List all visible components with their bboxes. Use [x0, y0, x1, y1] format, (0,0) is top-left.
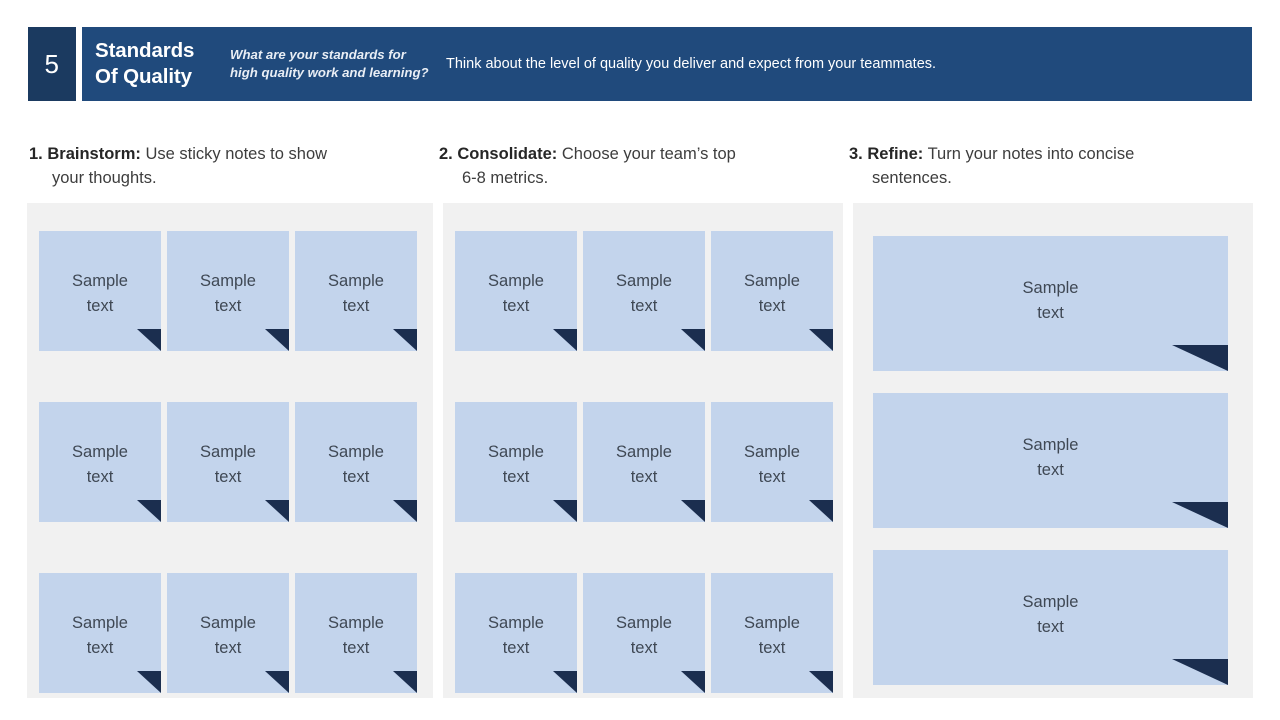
sticky-note-text-line-1: Sample [295, 611, 417, 636]
sticky-note-text-line-1: Sample [873, 433, 1228, 458]
step-number-badge: 5 [28, 27, 76, 101]
folded-corner-icon [809, 329, 833, 351]
instruction-step-2: 2. Consolidate: Choose your team’s top 6… [439, 143, 839, 191]
sticky-note-text-line-2: text [39, 294, 161, 319]
sticky-note-text: Sampletext [295, 440, 417, 490]
instruction-3-line-2: sentences. [849, 167, 1249, 190]
folded-corner-icon [137, 329, 161, 351]
sticky-note-text-line-1: Sample [583, 440, 705, 465]
sticky-note-text-line-1: Sample [455, 440, 577, 465]
instruction-row: 1. Brainstorm: Use sticky notes to show … [0, 143, 1280, 201]
sticky-note-text: Sampletext [167, 269, 289, 319]
sticky-note-text-line-2: text [873, 615, 1228, 640]
sticky-note-text-line-2: text [39, 465, 161, 490]
folded-corner-icon [393, 671, 417, 693]
sticky-note-text-line-1: Sample [873, 276, 1228, 301]
sticky-note[interactable]: Sampletext [39, 573, 161, 693]
panel-consolidate: SampletextSampletextSampletextSampletext… [443, 203, 843, 698]
sticky-note[interactable]: Sampletext [295, 573, 417, 693]
instruction-step-3: 3. Refine: Turn your notes into concise … [849, 143, 1249, 191]
sticky-note-text-line-2: text [583, 294, 705, 319]
folded-corner-icon [1172, 502, 1228, 528]
instruction-1-number: 1. [29, 145, 43, 163]
page-title-line-2: Of Quality [95, 64, 225, 90]
page-title: Standards Of Quality [95, 38, 225, 90]
instruction-2-line-2: 6-8 metrics. [439, 167, 839, 190]
sticky-note[interactable]: Sampletext [167, 231, 289, 351]
sticky-note-text: Sampletext [583, 269, 705, 319]
folded-corner-icon [1172, 659, 1228, 685]
sticky-note-text-line-1: Sample [167, 611, 289, 636]
refined-note-card[interactable]: Sampletext [873, 550, 1228, 685]
sticky-note[interactable]: Sampletext [39, 402, 161, 522]
sticky-note-text: Sampletext [583, 440, 705, 490]
sticky-note-text: Sampletext [873, 433, 1228, 483]
sticky-note-text-line-2: text [167, 465, 289, 490]
sticky-note[interactable]: Sampletext [711, 573, 833, 693]
sticky-note-text-line-2: text [711, 636, 833, 661]
sticky-note-text-line-2: text [455, 465, 577, 490]
instruction-1-line-1: Use sticky notes to show [141, 145, 327, 163]
folded-corner-icon [553, 329, 577, 351]
header-description: Think about the level of quality you del… [446, 55, 1252, 74]
sticky-note-text-line-1: Sample [295, 440, 417, 465]
sticky-note-text-line-2: text [295, 294, 417, 319]
instruction-3-line-1: Turn your notes into concise [923, 145, 1134, 163]
instruction-1-keyword: Brainstorm [47, 145, 135, 163]
sticky-note-text-line-2: text [39, 636, 161, 661]
sticky-note-text-line-2: text [583, 636, 705, 661]
folded-corner-icon [137, 500, 161, 522]
sticky-note-text-line-1: Sample [583, 611, 705, 636]
folded-corner-icon [1172, 345, 1228, 371]
sticky-note-text: Sampletext [583, 611, 705, 661]
instruction-3-number: 3. [849, 145, 863, 163]
instruction-2-line-1: Choose your team’s top [557, 145, 736, 163]
sticky-note-text: Sampletext [873, 276, 1228, 326]
folded-corner-icon [137, 671, 161, 693]
sticky-note[interactable]: Sampletext [167, 573, 289, 693]
sticky-note[interactable]: Sampletext [455, 231, 577, 351]
instruction-3-keyword: Refine [867, 145, 917, 163]
folded-corner-icon [809, 671, 833, 693]
sticky-note-text-line-2: text [455, 294, 577, 319]
sticky-note-text-line-2: text [295, 636, 417, 661]
sticky-note-text-line-1: Sample [583, 269, 705, 294]
sticky-note-text: Sampletext [455, 611, 577, 661]
sticky-note-text-line-2: text [873, 301, 1228, 326]
sticky-note-text-line-2: text [295, 465, 417, 490]
page-title-line-1: Standards [95, 38, 225, 64]
sticky-note-text-line-1: Sample [711, 611, 833, 636]
sticky-note-text: Sampletext [295, 611, 417, 661]
sticky-note-text-line-1: Sample [295, 269, 417, 294]
folded-corner-icon [809, 500, 833, 522]
sticky-note-text-line-1: Sample [167, 440, 289, 465]
folded-corner-icon [265, 671, 289, 693]
sticky-note-text-line-1: Sample [455, 269, 577, 294]
instruction-2-number: 2. [439, 145, 453, 163]
instruction-1-line-2: your thoughts. [29, 167, 429, 190]
sticky-note-text: Sampletext [873, 590, 1228, 640]
sticky-note-text-line-2: text [873, 458, 1228, 483]
refined-note-card[interactable]: Sampletext [873, 393, 1228, 528]
panel-brainstorm: SampletextSampletextSampletextSampletext… [27, 203, 433, 698]
panel-refine: SampletextSampletextSampletext [853, 203, 1253, 698]
sticky-note[interactable]: Sampletext [455, 402, 577, 522]
sticky-note-text-line-1: Sample [39, 269, 161, 294]
sticky-note-text: Sampletext [167, 440, 289, 490]
sticky-note-grid-consolidate: SampletextSampletextSampletextSampletext… [443, 203, 843, 698]
sticky-note[interactable]: Sampletext [711, 231, 833, 351]
sticky-note-text: Sampletext [455, 440, 577, 490]
sticky-note-text-line-1: Sample [167, 269, 289, 294]
folded-corner-icon [393, 500, 417, 522]
sticky-note-text-line-1: Sample [711, 440, 833, 465]
sticky-note-text: Sampletext [39, 269, 161, 319]
folded-corner-icon [681, 671, 705, 693]
folded-corner-icon [681, 500, 705, 522]
sticky-note[interactable]: Sampletext [583, 231, 705, 351]
sticky-note[interactable]: Sampletext [583, 573, 705, 693]
header-question: What are your standards for high quality… [230, 46, 430, 82]
sticky-note[interactable]: Sampletext [455, 573, 577, 693]
sticky-note-text: Sampletext [167, 611, 289, 661]
folded-corner-icon [393, 329, 417, 351]
sticky-note-text-line-1: Sample [711, 269, 833, 294]
step-number-text: 5 [45, 49, 60, 80]
sticky-note-grid-refine: SampletextSampletextSampletext [853, 203, 1253, 698]
sticky-note-text-line-2: text [455, 636, 577, 661]
sticky-note-text-line-2: text [711, 465, 833, 490]
sticky-note-text-line-2: text [583, 465, 705, 490]
folded-corner-icon [553, 671, 577, 693]
folded-corner-icon [681, 329, 705, 351]
sticky-note-text-line-2: text [711, 294, 833, 319]
sticky-note-text-line-1: Sample [873, 590, 1228, 615]
sticky-note-text: Sampletext [295, 269, 417, 319]
sticky-note-text: Sampletext [39, 611, 161, 661]
refined-note-card[interactable]: Sampletext [873, 236, 1228, 371]
sticky-note[interactable]: Sampletext [711, 402, 833, 522]
folded-corner-icon [553, 500, 577, 522]
sticky-note[interactable]: Sampletext [167, 402, 289, 522]
sticky-note-text: Sampletext [711, 440, 833, 490]
sticky-note[interactable]: Sampletext [295, 402, 417, 522]
sticky-note-text: Sampletext [455, 269, 577, 319]
header-title-bar: Standards Of Quality What are your stand… [82, 27, 1252, 101]
sticky-note-text: Sampletext [711, 269, 833, 319]
sticky-note-text-line-1: Sample [455, 611, 577, 636]
sticky-note-text: Sampletext [39, 440, 161, 490]
sticky-note-text-line-1: Sample [39, 440, 161, 465]
sticky-note[interactable]: Sampletext [39, 231, 161, 351]
sticky-note[interactable]: Sampletext [295, 231, 417, 351]
instruction-step-1: 1. Brainstorm: Use sticky notes to show … [29, 143, 429, 191]
folded-corner-icon [265, 329, 289, 351]
slide-header: 5 Standards Of Quality What are your sta… [0, 0, 1280, 120]
instruction-2-keyword: Consolidate [457, 145, 551, 163]
sticky-note-text: Sampletext [711, 611, 833, 661]
sticky-note-grid-brainstorm: SampletextSampletextSampletextSampletext… [27, 203, 433, 698]
sticky-note-text-line-1: Sample [39, 611, 161, 636]
sticky-note-text-line-2: text [167, 636, 289, 661]
sticky-note[interactable]: Sampletext [583, 402, 705, 522]
folded-corner-icon [265, 500, 289, 522]
sticky-note-text-line-2: text [167, 294, 289, 319]
